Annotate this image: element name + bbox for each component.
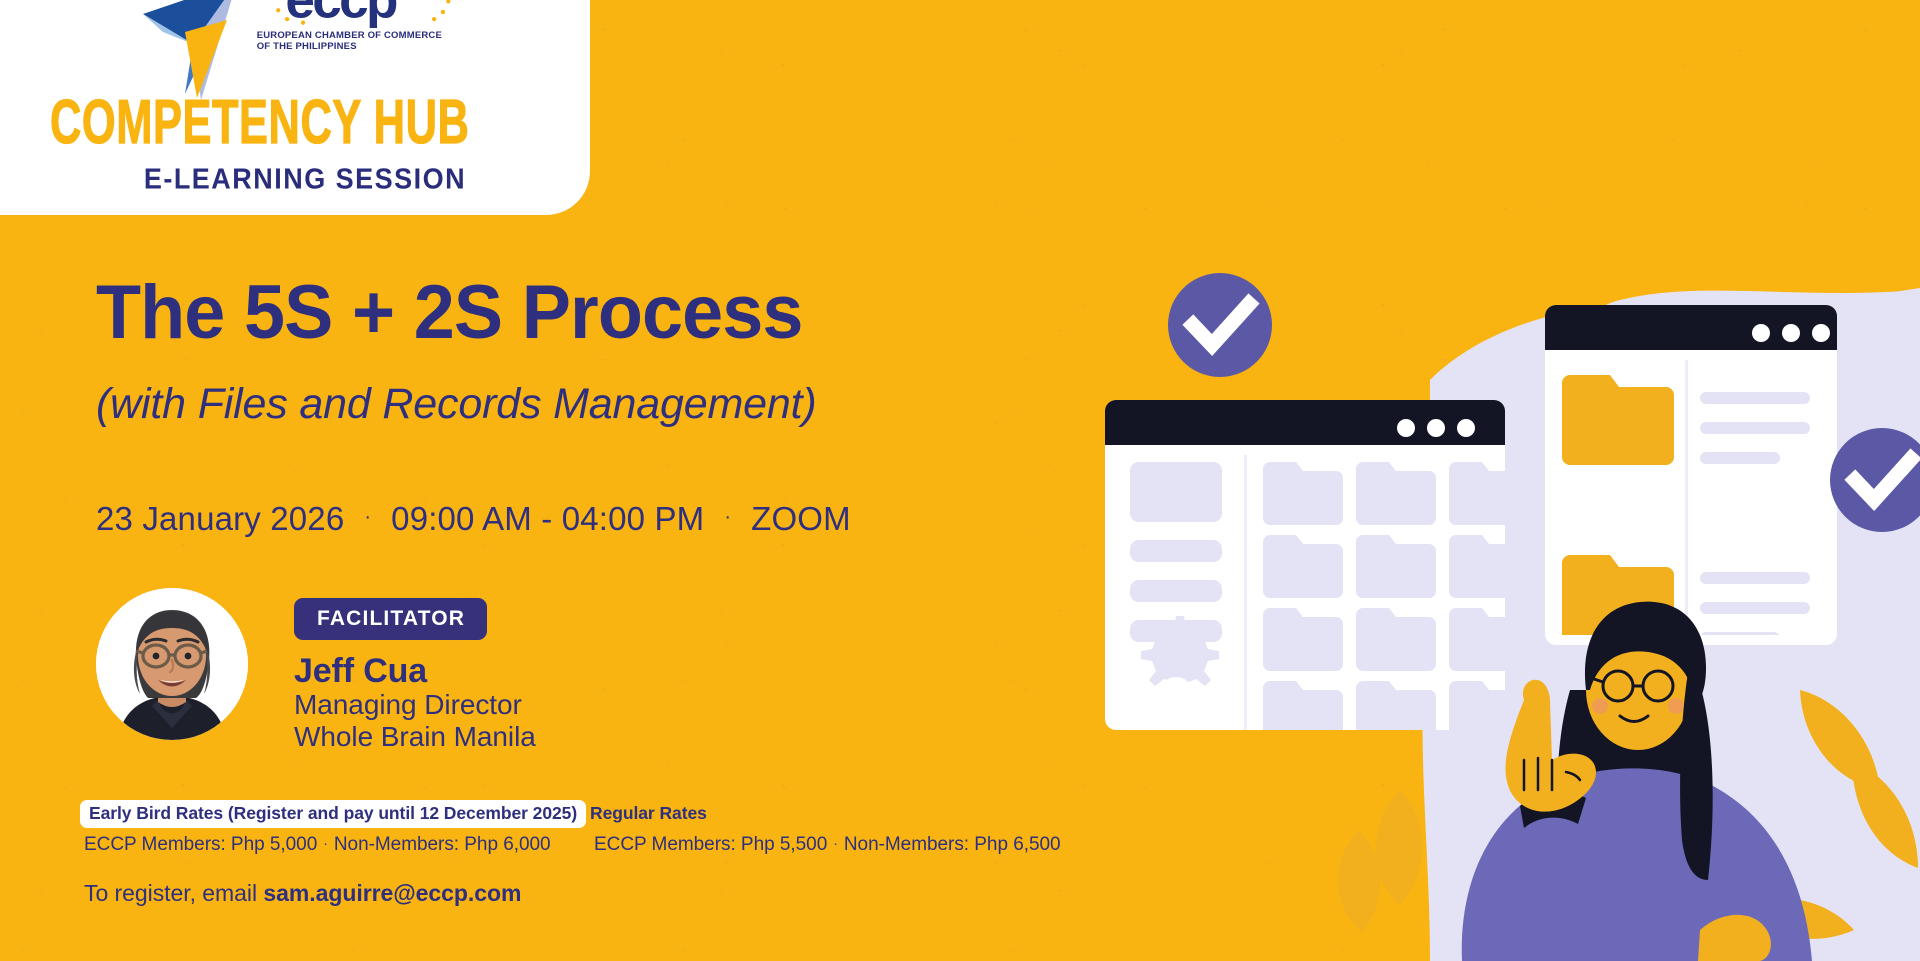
register-email[interactable]: sam.aguirre@eccp.com [263,880,521,906]
regular-members-price: ECCP Members: Php 5,500 [594,834,827,855]
event-platform: ZOOM [751,500,851,538]
program-title: COMPETENCY HUB [50,93,469,152]
facilitator-block: FACILITATOR Jeff Cua Managing Director W… [96,588,536,754]
regular-nonmembers-price: Non-Members: Php 6,500 [844,834,1061,855]
event-date: 23 January 2026 [96,500,344,538]
logo-card: eccp EUROPEAN CHAMBER OF COMMERCE OF THE… [0,0,590,215]
facilitator-badge: FACILITATOR [294,598,487,640]
facilitator-role: Managing Director [294,689,536,721]
register-prefix: To register, email [84,880,263,906]
registration-line: To register, email sam.aguirre@eccp.com [84,880,521,907]
browser-window-front [1105,400,1529,744]
facilitator-name: Jeff Cua [294,654,536,689]
check-circle-icon [1168,273,1272,377]
rate-separator-regular: · [827,835,844,851]
org-line-2: OF THE PHILIPPINES [257,41,470,53]
org-line-1: EUROPEAN CHAMBER OF COMMERCE [257,30,470,42]
logo-org-name: EUROPEAN CHAMBER OF COMMERCE OF THE PHIL… [257,30,470,53]
svg-text:eccp: eccp [285,0,397,28]
early-members-price: ECCP Members: Php 5,000 [84,834,317,855]
facilitator-company: Whole Brain Manila [294,721,536,753]
early-bird-prices: ECCP Members: Php 5,000·Non-Members: Php… [80,834,590,856]
paper-plane-icon [141,0,253,102]
rate-separator-early: · [317,835,334,851]
window-dots-back [1752,324,1830,342]
regular-heading: Regular Rates [590,800,707,828]
rates-block: Early Bird Rates (Register and pay until… [80,800,1061,856]
regular-rates: Regular Rates ECCP Members: Php 5,500·No… [590,800,1061,856]
illustration-artwork [1100,0,1920,961]
window-dots-front [1397,419,1475,437]
eccp-wordmark: eccp [257,0,470,28]
early-nonmembers-price: Non-Members: Php 6,000 [334,834,551,855]
regular-prices: ECCP Members: Php 5,500·Non-Members: Php… [590,834,1061,856]
meta-separator-2: · [724,507,731,527]
session-type-label: E-LEARNING SESSION [144,163,466,196]
browser-window-back [1545,305,1837,650]
event-meta-line: 23 January 2026 · 09:00 AM - 04:00 PM · … [96,500,851,538]
event-title: The 5S + 2S Process [96,275,802,351]
meta-separator-1: · [364,507,371,527]
event-subtitle: (with Files and Records Management) [96,383,817,426]
early-bird-rates: Early Bird Rates (Register and pay until… [80,800,590,856]
promo-banner: eccp EUROPEAN CHAMBER OF COMMERCE OF THE… [0,0,1920,961]
event-time: 09:00 AM - 04:00 PM [391,500,704,538]
avatar [96,588,248,740]
early-bird-heading: Early Bird Rates (Register and pay until… [80,800,586,828]
